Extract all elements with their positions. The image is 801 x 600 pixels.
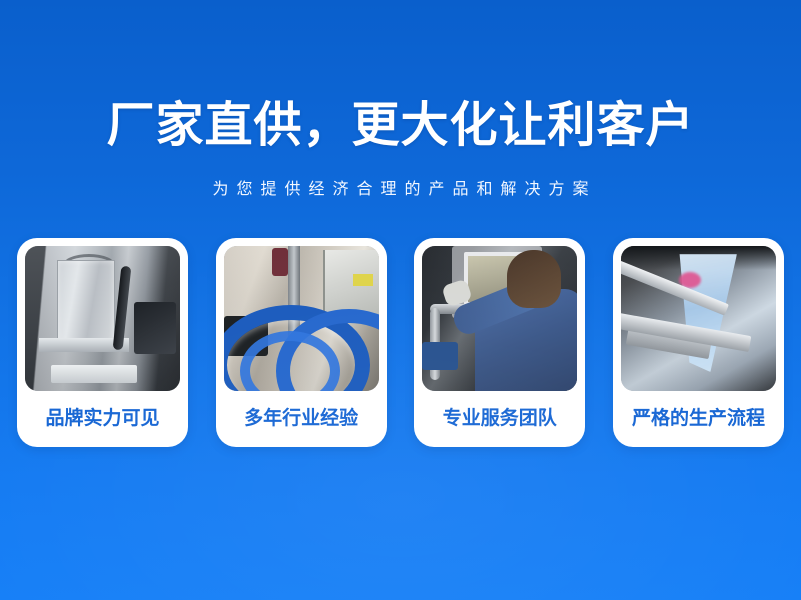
workshop-blue-hose-photo <box>224 246 379 391</box>
page-subtitle: 为您提供经济合理的产品和解决方案 <box>0 178 801 202</box>
feature-card-label: 品牌实力可见 <box>25 391 180 447</box>
machine-plate-detail <box>51 365 137 383</box>
blue-bin-detail <box>422 342 458 370</box>
technician-head-detail <box>507 250 561 308</box>
feature-card-service-team[interactable]: 专业服务团队 <box>414 238 585 447</box>
caliper-measurement-photo <box>621 246 776 391</box>
technician-control-panel-photo <box>422 246 577 391</box>
machine-body-detail <box>57 260 115 344</box>
card-photo-frame <box>422 246 577 391</box>
feature-card-industry-experience[interactable]: 多年行业经验 <box>216 238 387 447</box>
feature-card-list: 品牌实力可见 多年行业经验 <box>17 238 784 447</box>
machine-control-box-detail <box>134 302 176 354</box>
page-title: 厂家直供，更大化让利客户 <box>0 98 801 154</box>
feature-card-label: 多年行业经验 <box>224 391 379 447</box>
feature-card-brand-strength[interactable]: 品牌实力可见 <box>17 238 188 447</box>
feature-card-label: 严格的生产流程 <box>621 391 776 447</box>
card-photo-frame <box>621 246 776 391</box>
card-photo-frame <box>25 246 180 391</box>
headline-container: 厂家直供，更大化让利客户 <box>0 98 801 154</box>
workshop-label-tag-detail <box>353 274 373 286</box>
feature-card-production-process[interactable]: 严格的生产流程 <box>613 238 784 447</box>
workshop-tool-head-detail <box>272 248 288 276</box>
promo-banner: 厂家直供，更大化让利客户 为您提供经济合理的产品和解决方案 品牌实力可见 <box>0 0 801 600</box>
factory-machine-photo <box>25 246 180 391</box>
feature-card-label: 专业服务团队 <box>422 391 577 447</box>
card-photo-frame <box>224 246 379 391</box>
